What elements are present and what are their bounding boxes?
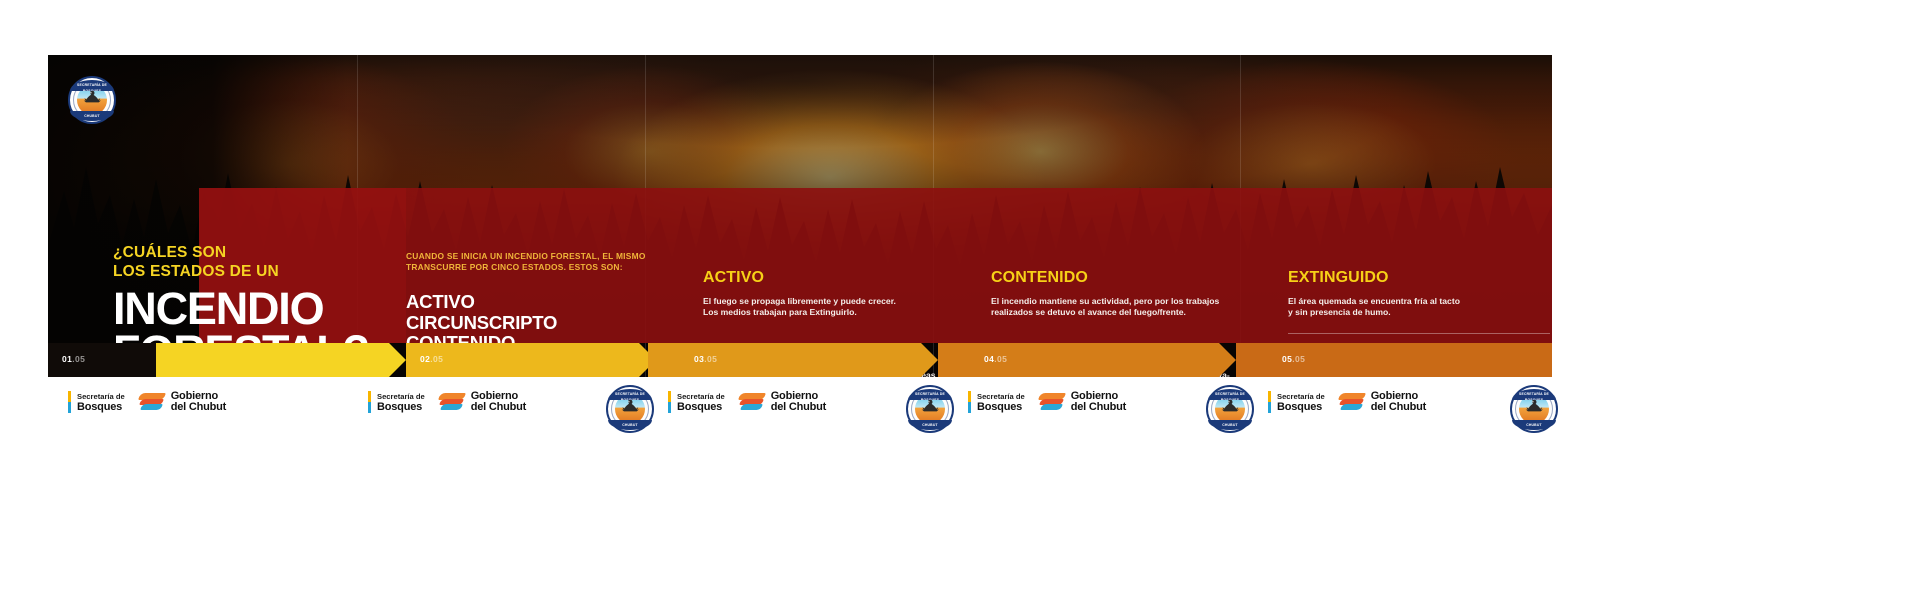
secretaria-text: Secretaría de Bosques bbox=[677, 392, 725, 413]
gobierno-text: Gobierno del Chubut bbox=[171, 391, 226, 413]
progress-step-2[interactable] bbox=[156, 343, 406, 377]
progress-step-4[interactable]: 04.05 bbox=[938, 343, 1236, 377]
list-item: ACTIVO bbox=[406, 292, 656, 313]
crest-bottom-text: CHUBUT bbox=[1208, 420, 1252, 430]
desc-line-1: El incendio mantiene su actividad, pero … bbox=[991, 296, 1253, 307]
state-heading: CONTENIDO bbox=[991, 269, 1253, 287]
gobierno-line-2: del Chubut bbox=[1371, 402, 1426, 413]
logo-lockup: Secretaría de Bosques Gobierno del Chubu… bbox=[668, 391, 826, 413]
poster: SECRETARÍA DE BOSQUES CHUBUT ¿CUÁLES SON… bbox=[48, 55, 1552, 377]
page-number: 05.05 bbox=[1282, 354, 1305, 364]
crest-top-text: SECRETARÍA DE BOSQUES bbox=[908, 389, 952, 400]
desc-line-1: El área quemada se encuentra fría al tac… bbox=[1288, 296, 1550, 307]
gobierno-text: Gobierno del Chubut bbox=[771, 391, 826, 413]
chubut-wave-icon bbox=[1339, 392, 1365, 412]
footer-cell-5: Secretaría de Bosques Gobierno del Chubu… bbox=[1248, 377, 1552, 437]
secretaria-line-2: Bosques bbox=[977, 402, 1025, 413]
progress-step-5[interactable]: 05.05 bbox=[1236, 343, 1552, 377]
crest-bottom-text: CHUBUT bbox=[908, 420, 952, 430]
secretaria-text: Secretaría de Bosques bbox=[77, 392, 125, 413]
state-description: El incendio mantiene su actividad, pero … bbox=[991, 296, 1253, 319]
secretaria-text: Secretaría de Bosques bbox=[1277, 392, 1325, 413]
progress-step-2-label[interactable]: 02.05 bbox=[406, 343, 656, 377]
secretaria-line-2: Bosques bbox=[77, 402, 125, 413]
condor-icon bbox=[1221, 397, 1239, 417]
secretaria-line-2: Bosques bbox=[677, 402, 725, 413]
infographic-canvas: SECRETARÍA DE BOSQUES CHUBUT ¿CUÁLES SON… bbox=[0, 0, 1920, 594]
progress-arrow-strip: 01.05 02.05 03.05 04.05 05.05 bbox=[48, 343, 1552, 377]
footer-cell-1: Secretaría de Bosques Gobierno del Chubu… bbox=[48, 377, 348, 437]
secretaria-text: Secretaría de Bosques bbox=[377, 392, 425, 413]
state-description: El área quemada se encuentra fría al tac… bbox=[1288, 296, 1550, 319]
spacer bbox=[703, 319, 965, 343]
logo-accent-bar bbox=[968, 391, 971, 413]
gobierno-line-2: del Chubut bbox=[471, 402, 526, 413]
list-item: CIRCUNSCRIPTO bbox=[406, 313, 656, 334]
logo-lockup: Secretaría de Bosques Gobierno del Chubu… bbox=[1268, 391, 1426, 413]
chubut-wave-icon bbox=[1039, 392, 1065, 412]
avatar: SECRETARÍA DE BOSQUES CHUBUT bbox=[1206, 385, 1254, 433]
secretaria-text: Secretaría de Bosques bbox=[977, 392, 1025, 413]
crest-top-text: SECRETARÍA DE BOSQUES bbox=[608, 389, 652, 400]
footer-cell-4: Secretaría de Bosques Gobierno del Chubu… bbox=[948, 377, 1248, 437]
intro-line-2: TRANSCURRE POR CINCO ESTADOS. ESTOS SON: bbox=[406, 262, 656, 273]
logo-accent-bar bbox=[1268, 391, 1271, 413]
desc-line-2: realizados se detuvo el avance del fuego… bbox=[991, 307, 1253, 318]
secretaria-line-2: Bosques bbox=[1277, 402, 1325, 413]
footer-cell-2: Secretaría de Bosques Gobierno del Chubu… bbox=[348, 377, 648, 437]
logo-accent-bar bbox=[68, 391, 71, 413]
crest-top-text: SECRETARÍA DE BOSQUES bbox=[1512, 389, 1556, 400]
progress-step-3[interactable]: 03.05 bbox=[648, 343, 938, 377]
chubut-wave-icon bbox=[739, 392, 765, 412]
gobierno-line-2: del Chubut bbox=[1071, 402, 1126, 413]
crest-bottom-text: CHUBUT bbox=[1512, 420, 1556, 430]
gobierno-text: Gobierno del Chubut bbox=[1071, 391, 1126, 413]
secretaria-line-2: Bosques bbox=[377, 402, 425, 413]
avatar: SECRETARÍA DE BOSQUES CHUBUT bbox=[1510, 385, 1558, 433]
condor-icon bbox=[921, 397, 939, 417]
state-description: El fuego se propaga libremente y puede c… bbox=[703, 296, 965, 319]
secretaria-bosques-logo: Secretaría de Bosques bbox=[68, 391, 125, 413]
crest-top-text: SECRETARÍA DE BOSQUES bbox=[70, 80, 114, 91]
spacer bbox=[991, 319, 1253, 343]
state-activo: ACTIVO El fuego se propaga libremente y … bbox=[703, 269, 965, 319]
gobierno-text: Gobierno del Chubut bbox=[471, 391, 526, 413]
secretaria-bosques-logo: Secretaría de Bosques bbox=[968, 391, 1025, 413]
logo-lockup: Secretaría de Bosques Gobierno del Chubu… bbox=[68, 391, 226, 413]
footer-logo-bar: Secretaría de Bosques Gobierno del Chubu… bbox=[48, 377, 1552, 437]
logo-lockup: Secretaría de Bosques Gobierno del Chubu… bbox=[968, 391, 1126, 413]
gobierno-text: Gobierno del Chubut bbox=[1371, 391, 1426, 413]
gobierno-chubut-logo: Gobierno del Chubut bbox=[739, 391, 826, 413]
chubut-wave-icon bbox=[139, 392, 165, 412]
title-line-1: INCENDIO bbox=[113, 287, 403, 330]
gobierno-line-2: del Chubut bbox=[771, 402, 826, 413]
page-number: 04.05 bbox=[984, 354, 1007, 364]
gobierno-line-2: del Chubut bbox=[171, 402, 226, 413]
gobierno-chubut-logo: Gobierno del Chubut bbox=[139, 391, 226, 413]
page-number: 01.05 bbox=[62, 354, 85, 364]
state-extinguido: EXTINGUIDO El área quemada se encuentra … bbox=[1288, 269, 1550, 319]
state-contenido: CONTENIDO El incendio mantiene su activi… bbox=[991, 269, 1253, 319]
page-title-kicker: ¿CUÁLES SON LOS ESTADOS DE UN bbox=[113, 243, 403, 281]
footer-cell-3: Secretaría de Bosques Gobierno del Chubu… bbox=[648, 377, 948, 437]
kicker-line-2: LOS ESTADOS DE UN bbox=[113, 262, 403, 281]
desc-line-2: Los medios trabajan para Extinguirlo. bbox=[703, 307, 965, 318]
kicker-line-1: ¿CUÁLES SON bbox=[113, 243, 403, 262]
secretaria-bosques-logo: Secretaría de Bosques bbox=[668, 391, 725, 413]
logo-lockup: Secretaría de Bosques Gobierno del Chubu… bbox=[368, 391, 526, 413]
condor-icon bbox=[621, 397, 639, 417]
state-heading: EXTINGUIDO bbox=[1288, 269, 1550, 287]
page-number: 02.05 bbox=[420, 354, 443, 364]
crest-top-text: SECRETARÍA DE BOSQUES bbox=[1208, 389, 1252, 400]
intro-line-1: CUANDO SE INICIA UN INCENDIO FORESTAL, E… bbox=[406, 251, 656, 262]
intro-lead: CUANDO SE INICIA UN INCENDIO FORESTAL, E… bbox=[406, 251, 656, 272]
secretaria-bosques-logo: Secretaría de Bosques bbox=[1268, 391, 1325, 413]
gobierno-chubut-logo: Gobierno del Chubut bbox=[439, 391, 526, 413]
gobierno-chubut-logo: Gobierno del Chubut bbox=[1339, 391, 1426, 413]
divider bbox=[1288, 333, 1550, 334]
logo-accent-bar bbox=[368, 391, 371, 413]
avatar: SECRETARÍA DE BOSQUES CHUBUT bbox=[606, 385, 654, 433]
condor-icon bbox=[83, 88, 101, 108]
gobierno-chubut-logo: Gobierno del Chubut bbox=[1039, 391, 1126, 413]
desc-line-1: El fuego se propaga libremente y puede c… bbox=[703, 296, 965, 307]
chubut-wave-icon bbox=[439, 392, 465, 412]
desc-line-2: y sin presencia de humo. bbox=[1288, 307, 1550, 318]
avatar: SECRETARÍA DE BOSQUES CHUBUT bbox=[68, 76, 116, 124]
crest-bottom-text: CHUBUT bbox=[608, 420, 652, 430]
state-heading: ACTIVO bbox=[703, 269, 965, 287]
page-number: 03.05 bbox=[694, 354, 717, 364]
logo-accent-bar bbox=[668, 391, 671, 413]
secretaria-bosques-logo: Secretaría de Bosques bbox=[368, 391, 425, 413]
condor-icon bbox=[1525, 397, 1543, 417]
avatar: SECRETARÍA DE BOSQUES CHUBUT bbox=[906, 385, 954, 433]
